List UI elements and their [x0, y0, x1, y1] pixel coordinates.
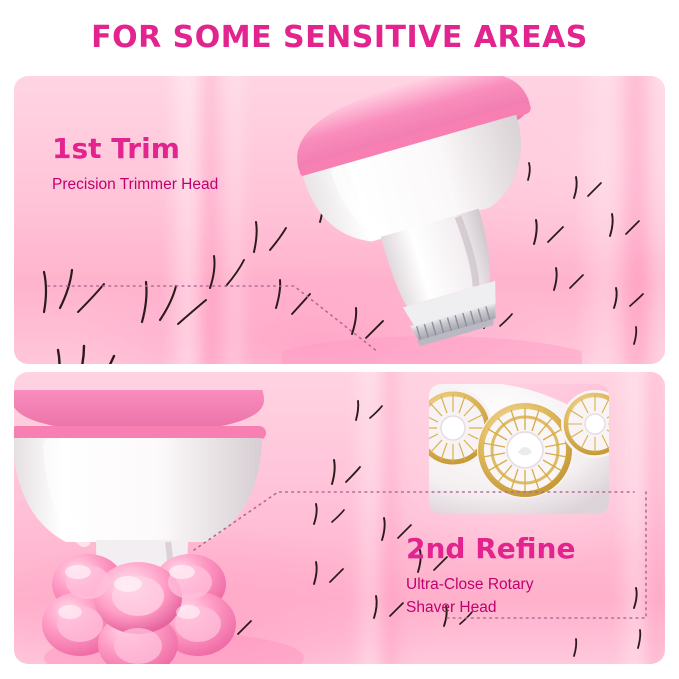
step-2-label: 2nd Refine Ultra-Close Rotary Shaver Hea…	[406, 532, 575, 619]
page-title: FOR SOME SENSITIVE AREAS	[0, 20, 679, 55]
precision-trimmer-device	[282, 76, 582, 364]
promo-image: FOR SOME SENSITIVE AREAS	[0, 0, 679, 679]
step-1-label: 1st Trim Precision Trimmer Head	[52, 132, 218, 196]
step-1-title: 1st Trim	[52, 132, 218, 165]
step-2-caption-line2: Shaver Head	[406, 598, 575, 619]
rotary-shaver-device	[14, 390, 342, 664]
step-1-caption: Precision Trimmer Head	[52, 175, 218, 196]
rotary-head-closeup-inset	[429, 384, 609, 514]
step-2-title: 2nd Refine	[406, 532, 575, 565]
step-2-caption-line1: Ultra-Close Rotary	[406, 575, 575, 596]
panel-precision-trimmer: 1st Trim Precision Trimmer Head	[14, 76, 665, 364]
panel-rotary-shaver: 2nd Refine Ultra-Close Rotary Shaver Hea…	[14, 372, 665, 664]
